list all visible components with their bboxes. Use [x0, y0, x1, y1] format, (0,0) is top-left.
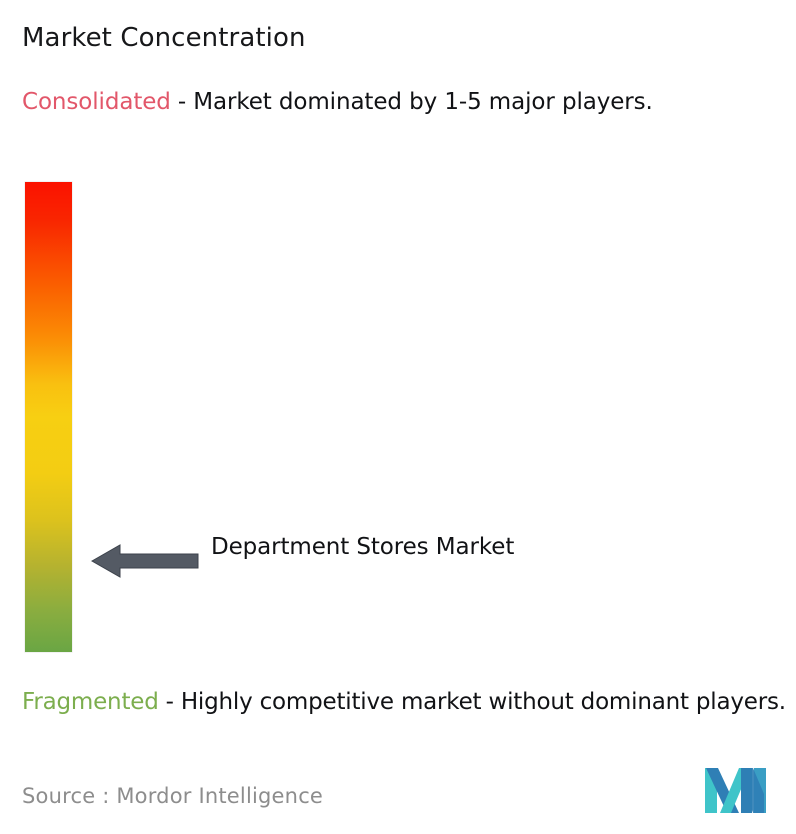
mordor-intelligence-logo — [705, 768, 767, 813]
source-attribution: Source : Mordor Intelligence — [22, 782, 323, 810]
legend-description-fragmented: - Highly competitive market without domi… — [166, 689, 786, 715]
left-arrow-icon — [90, 540, 200, 582]
pointer-label-department-stores-market: Department Stores Market — [211, 530, 514, 564]
page-title: Market Concentration — [22, 21, 306, 55]
legend-fragmented: Fragmented- Highly competitive market wi… — [22, 686, 787, 719]
market-concentration-scale-bar — [25, 182, 72, 652]
legend-description-consolidated: - Market dominated by 1-5 major players. — [178, 89, 653, 115]
legend-term-consolidated: Consolidated — [22, 89, 171, 115]
legend-consolidated: Consolidated- Market dominated by 1-5 ma… — [22, 86, 762, 119]
legend-term-fragmented: Fragmented — [22, 689, 159, 715]
